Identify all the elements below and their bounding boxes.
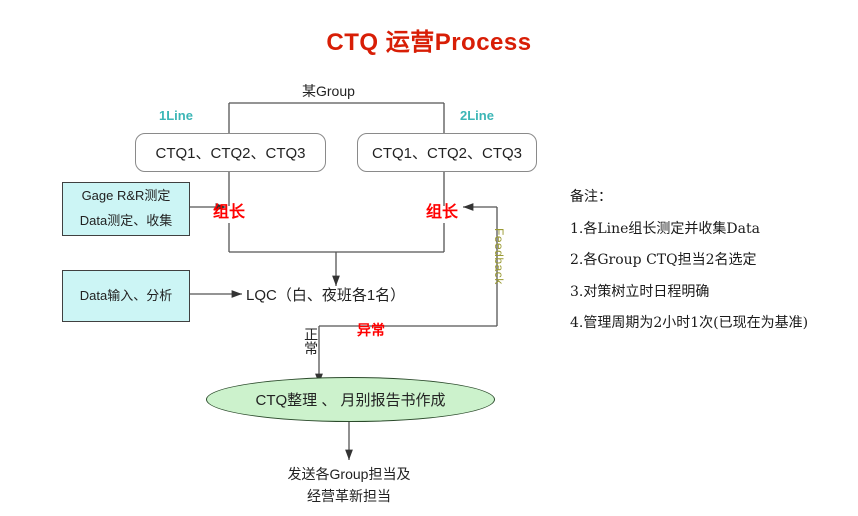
note-item-1: 1.各Line组长测定并收集Data — [570, 214, 808, 246]
output-line2: 经营革新担当 — [249, 486, 449, 508]
data-input-box[interactable]: Data输入、分析 — [62, 270, 190, 322]
gage-rr-line2: Data测定、收集 — [80, 209, 172, 234]
branch-normal-label: 正常 — [303, 327, 319, 355]
ctq-box-right[interactable]: CTQ1、CTQ2、CTQ3 — [357, 133, 537, 172]
gage-rr-line1: Gage R&R测定 — [82, 184, 171, 209]
data-input-line1: Data输入、分析 — [80, 284, 172, 309]
notes-block: 备注： 1.各Line组长测定并收集Data 2.各Group CTQ担当2名选… — [570, 182, 808, 340]
branch-abnormal-label: 异常 — [357, 320, 385, 340]
group-label: 某Group — [302, 81, 355, 101]
feedback-label: Feedback — [492, 228, 506, 285]
lqc-label: LQC（白、夜班各1名） — [246, 284, 405, 305]
leader-label-right: 组长 — [426, 198, 458, 222]
note-item-2: 2.各Group CTQ担当2名选定 — [570, 245, 808, 277]
notes-heading: 备注： — [570, 182, 808, 214]
line-label-left: 1Line — [159, 108, 193, 123]
report-ellipse[interactable]: CTQ整理 、 月别报告书作成 — [206, 377, 495, 422]
output-caption: 发送各Group担当及 经营革新担当 — [249, 464, 449, 507]
diagram-canvas: CTQ 运营Process — [0, 0, 858, 516]
page-title: CTQ 运营Process — [0, 22, 858, 57]
leader-label-left: 组长 — [213, 198, 245, 222]
line-label-right: 2Line — [460, 108, 494, 123]
ctq-box-left[interactable]: CTQ1、CTQ2、CTQ3 — [135, 133, 326, 172]
note-item-3: 3.对策树立时日程明确 — [570, 277, 808, 309]
output-line1: 发送各Group担当及 — [249, 464, 449, 486]
gage-rr-box[interactable]: Gage R&R测定 Data测定、收集 — [62, 182, 190, 236]
note-item-4: 4.管理周期为2小时1次(已现在为基准) — [570, 308, 808, 340]
